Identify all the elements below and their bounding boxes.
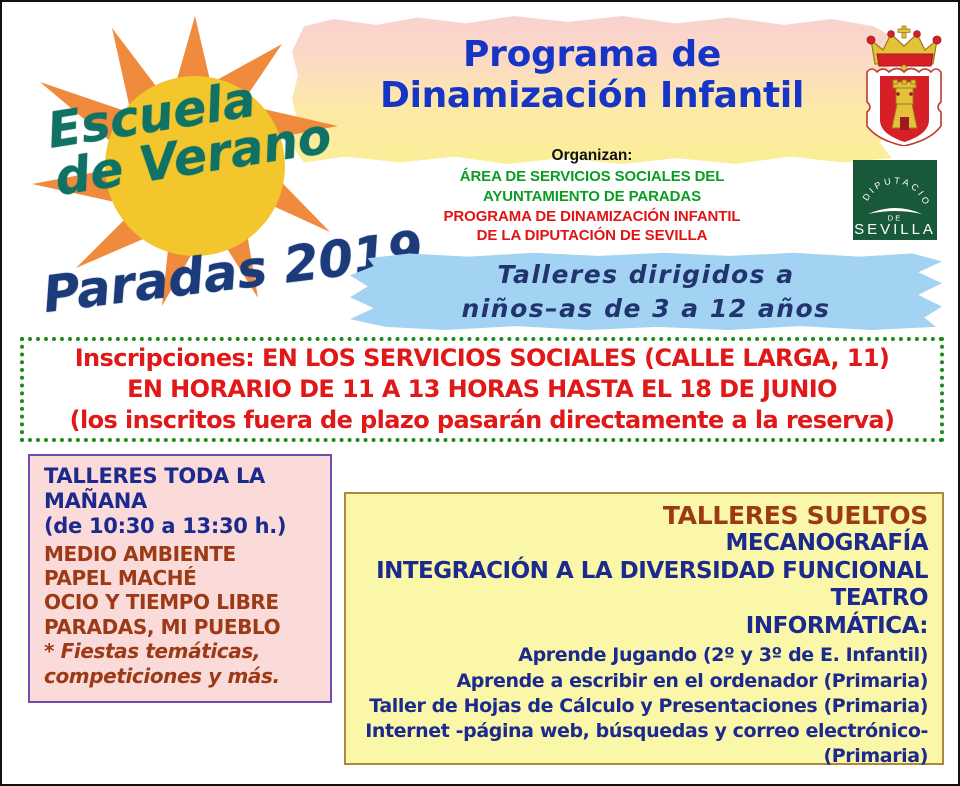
- svg-text:DIPUTACION: DIPUTACION: [853, 160, 932, 208]
- page-title: Programa de Dinamización Infantil: [332, 34, 852, 116]
- registration-line-2: EN HORARIO DE 11 A 13 HORAS HASTA EL 18 …: [127, 374, 837, 405]
- morning-workshops-schedule: (de 10:30 a 13:30 h.): [44, 514, 330, 539]
- registration-line-1: Inscripciones: EN LOS SERVICIOS SOCIALES…: [75, 343, 890, 374]
- audience-banner-text: Talleres dirigidos a niños–as de 3 a 12 …: [350, 255, 942, 329]
- morning-workshops-list: MEDIO AMBIENTE PAPEL MACHÉ OCIO Y TIEMPO…: [44, 542, 330, 640]
- morning-workshops-title: TALLERES TODA LA MAÑANA: [44, 464, 330, 514]
- coat-of-arms-icon: [857, 24, 952, 146]
- computing-courses-list: Aprende Jugando (2º y 3º de E. Infantil)…: [356, 643, 928, 769]
- registration-line-3: (los inscritos fuera de plazo pasarán di…: [70, 405, 895, 436]
- loose-workshops-box: TALLERES SUELTOS MECANOGRAFÍA INTEGRACIÓ…: [344, 492, 944, 765]
- organizer-ayuntamiento: ÁREA DE SERVICIOS SOCIALES DEL AYUNTAMIE…: [332, 167, 852, 207]
- organizers-heading: Organizan:: [332, 146, 852, 167]
- morning-workshops-box: TALLERES TODA LA MAÑANA (de 10:30 a 13:3…: [28, 454, 332, 703]
- organizers-block: Organizan: ÁREA DE SERVICIOS SOCIALES DE…: [332, 146, 852, 246]
- loose-workshops-list: MECANOGRAFÍA INTEGRACIÓN A LA DIVERSIDAD…: [356, 530, 928, 640]
- morning-workshops-note: * Fiestas temáticas, competiciones y más…: [44, 639, 330, 688]
- organizer-diputacion: PROGRAMA DE DINAMIZACIÓN INFANTIL DE LA …: [332, 207, 852, 247]
- poster-canvas: Escuela de Verano Paradas 2019 Programa …: [0, 0, 960, 786]
- registration-box: Inscripciones: EN LOS SERVICIOS SOCIALES…: [20, 337, 944, 442]
- diputacion-sevilla-logo: DIPUTACION DE SEVILLA: [853, 160, 937, 240]
- svg-text:SEVILLA: SEVILLA: [854, 221, 936, 238]
- loose-workshops-title: TALLERES SUELTOS: [356, 502, 928, 530]
